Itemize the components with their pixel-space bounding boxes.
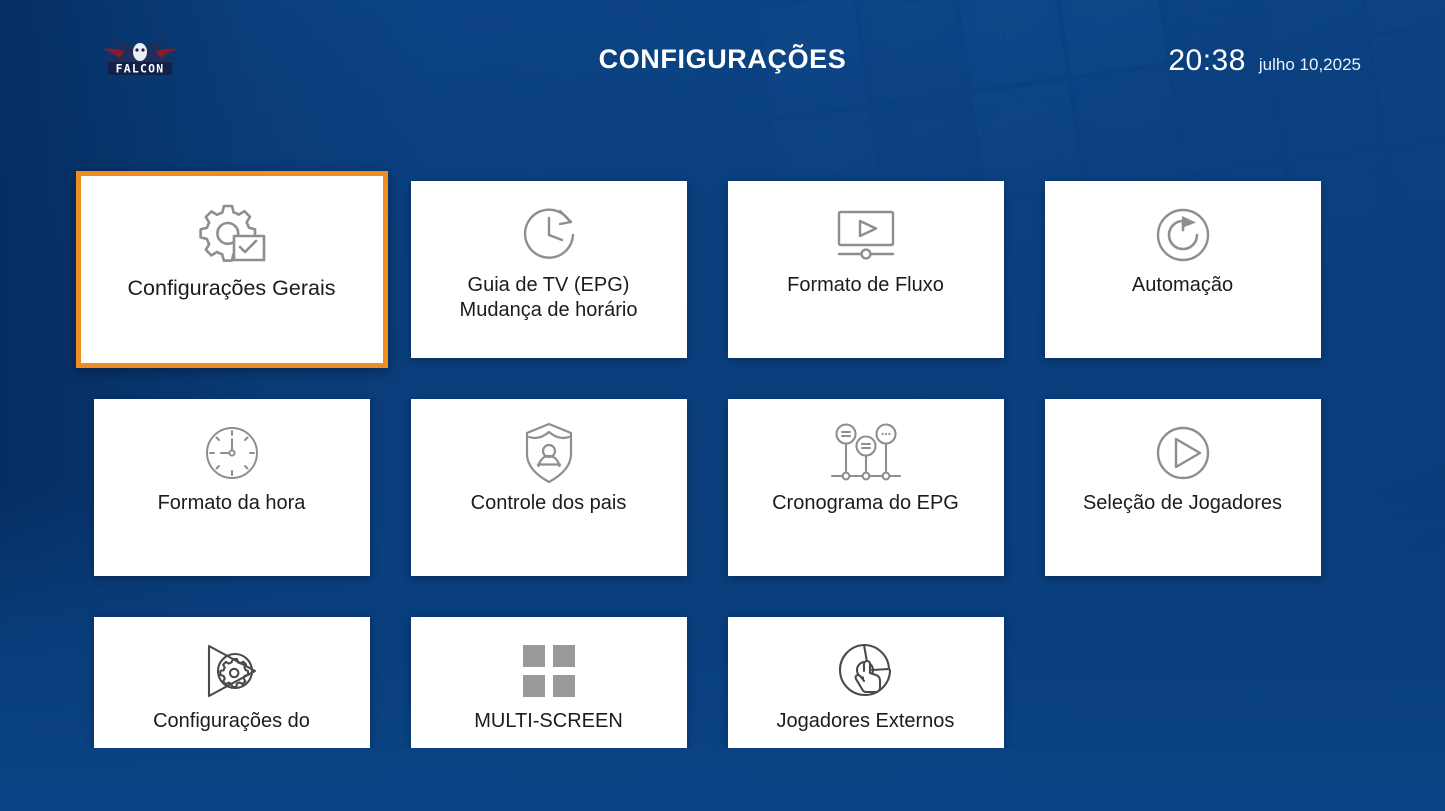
clock-date: julho 10,2025: [1259, 55, 1361, 75]
clock-refresh-icon: [516, 181, 582, 273]
card-label: Controle dos pais: [463, 491, 635, 516]
play-circle-icon: [1151, 399, 1215, 491]
netflix-mark: N: [1390, 122, 1402, 139]
card-label: Configurações Gerais: [120, 276, 344, 301]
play-gear-icon: [197, 617, 267, 709]
clock-time: 20:38: [1168, 44, 1246, 78]
timeline-schedule-icon: [826, 399, 906, 491]
clock-area: 20:38 julho 10,2025: [1168, 44, 1361, 78]
gear-check-icon: [194, 176, 270, 276]
video-player-icon: [830, 181, 902, 273]
top-bar: FALCON CONFIGURAÇÕES 20:38 julho 10,2025: [0, 0, 1445, 118]
disc-hand-icon: [834, 617, 898, 709]
settings-grid-viewport[interactable]: Configurações Gerais Guia de TV (EPG) Mu…: [0, 150, 1445, 748]
settings-screen: NARCOS SAFE ALL THE BRIGHT PLACES BANDER…: [0, 0, 1445, 811]
card-cronograma-do-epg[interactable]: Cronograma do EPG: [728, 399, 1004, 576]
card-selecao-de-jogadores[interactable]: Seleção de Jogadores: [1045, 399, 1321, 576]
card-label: Automação: [1124, 273, 1241, 298]
grid-four-squares-icon: [520, 617, 578, 709]
card-label: Seleção de Jogadores: [1075, 491, 1290, 516]
card-formato-de-fluxo[interactable]: Formato de Fluxo: [728, 181, 1004, 358]
refresh-circle-icon: [1151, 181, 1215, 273]
card-jogadores-externos[interactable]: Jogadores Externos: [728, 617, 1004, 748]
card-guia-de-tv-epg[interactable]: Guia de TV (EPG) Mudança de horário: [411, 181, 687, 358]
card-controle-dos-pais[interactable]: Controle dos pais: [411, 399, 687, 576]
analog-clock-icon: [200, 399, 264, 491]
settings-grid: Configurações Gerais Guia de TV (EPG) Mu…: [78, 150, 1368, 748]
card-label: Configurações do: [145, 709, 318, 734]
card-label: Cronograma do EPG: [764, 491, 967, 516]
card-formato-da-hora[interactable]: Formato da hora: [94, 399, 370, 576]
card-label: Formato de Fluxo: [779, 273, 952, 298]
card-configuracoes-gerais[interactable]: Configurações Gerais: [76, 171, 388, 368]
card-multi-screen[interactable]: MULTI-SCREEN: [411, 617, 687, 748]
card-label: Formato da hora: [150, 491, 314, 516]
card-label: Jogadores Externos: [769, 709, 963, 734]
shield-user-icon: [519, 399, 579, 491]
card-configuracoes-do[interactable]: Configurações do: [94, 617, 370, 748]
card-label: MULTI-SCREEN: [466, 709, 631, 734]
card-automacao[interactable]: Automação: [1045, 181, 1321, 358]
card-label: Guia de TV (EPG) Mudança de horário: [452, 273, 646, 323]
